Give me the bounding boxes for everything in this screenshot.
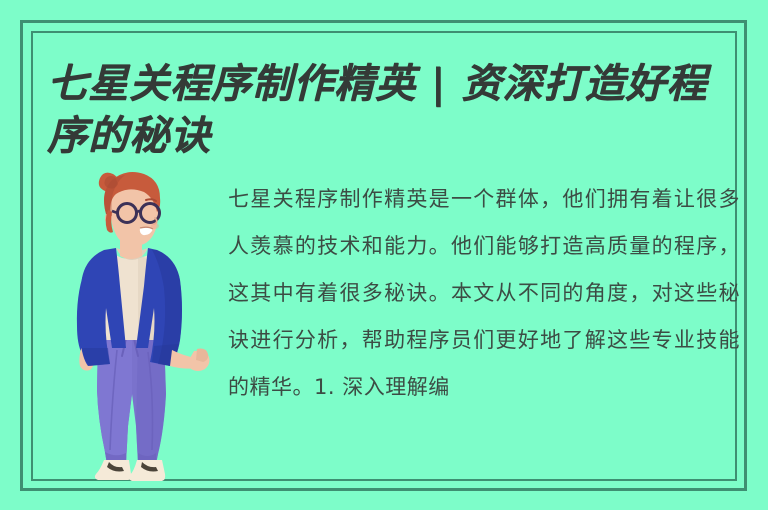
standing-person-illustration [60, 168, 210, 483]
head-group [99, 172, 160, 246]
article-title: 七星关程序制作精英 | 资深打造好程序的秘诀 [47, 58, 737, 162]
article-card: 七星关程序制作精英 | 资深打造好程序的秘诀 [0, 0, 768, 510]
shoes-group [95, 460, 165, 481]
article-body-text: 七星关程序制作精英是一个群体，他们拥有着让很多人羡慕的技术和能力。他们能够打造高… [228, 176, 740, 476]
person-figure-svg [60, 168, 210, 483]
extended-arm-group [170, 349, 210, 371]
